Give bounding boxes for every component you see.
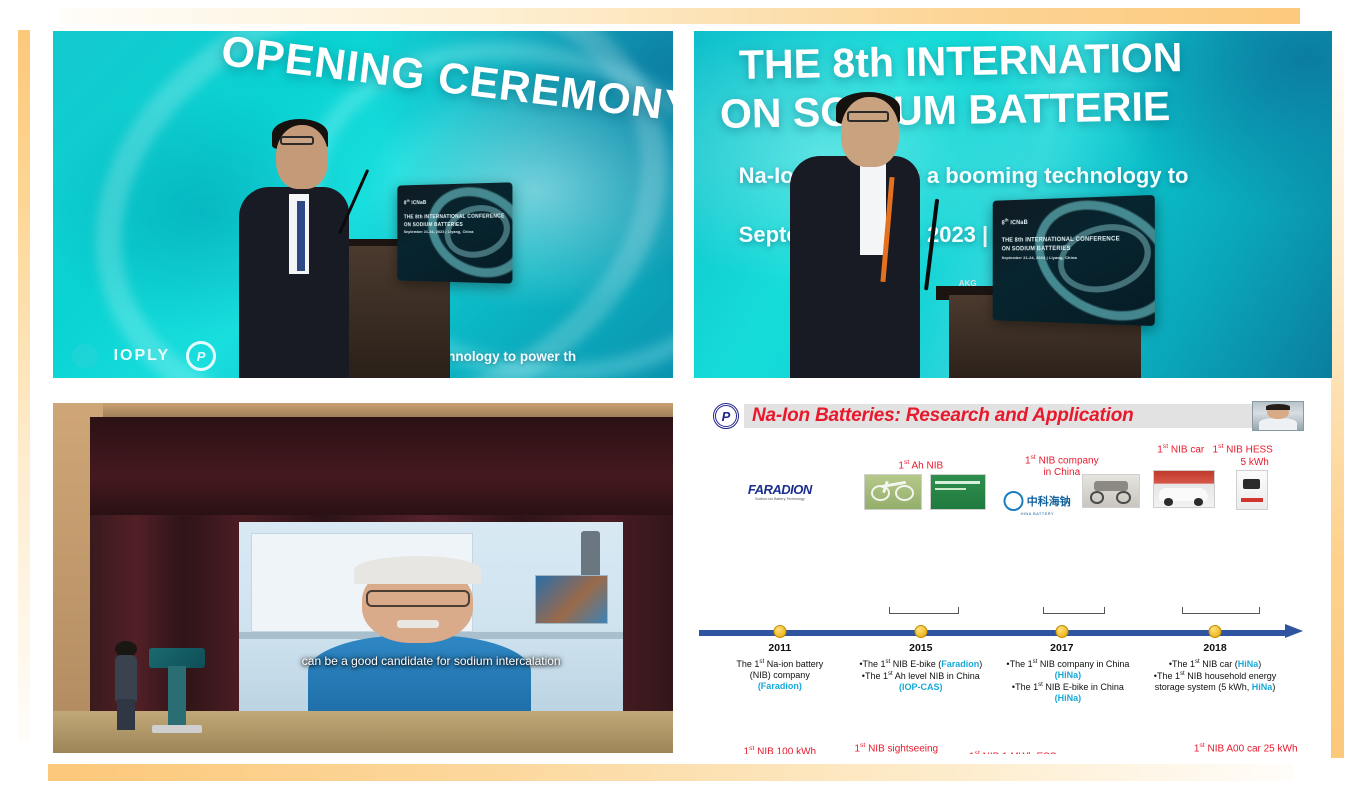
milestone-label-2021: 1st NIB 1 MWh ESS (969, 750, 1057, 754)
eyeglasses-icon (280, 136, 314, 145)
frame-bar-right (1331, 46, 1344, 758)
timeline-node-2015 (914, 625, 927, 638)
conference-laptop-banner: 8th ICNaBTHE 8th INTERNATIONAL CONFERENC… (993, 194, 1155, 325)
institute-seal-icon: P (713, 403, 739, 429)
timeline-caption-2018: •The 1st NIB car (HiNa)•The 1st NIB hous… (1131, 658, 1299, 692)
speaker-head (276, 125, 328, 189)
conference-laptop-banner: 8th ICNaBTHE 8th INTERNATIONAL CONFERENC… (397, 182, 512, 283)
milestone-label-2023: 1st NIB A00 car 25 kWh (1194, 742, 1298, 754)
timeline-caption-2015: •The 1st NIB E-bike (Faradion)•The 1st A… (841, 658, 1001, 692)
hina-battery-logo: 中科海钠 HINA BATTERY (1004, 491, 1071, 516)
timeline-year-2011: 2011 (768, 642, 791, 654)
microphone-brand-label: AKG (959, 279, 977, 288)
timeline-caption-2017: •The 1st NIB company in China(HiNa)•The … (983, 658, 1153, 703)
slide-canvas: P Na-Ion Batteries: Research and Applica… (694, 399, 1307, 754)
milestone-label-2015: 1st Ah NIB (898, 459, 943, 472)
presenter-hair (1266, 404, 1290, 410)
curtain-pelmet (90, 417, 673, 515)
video-caption-text: can be a good candidate for sodium inter… (239, 654, 623, 668)
standing-attendee (115, 641, 137, 729)
speaker-shirt (860, 163, 886, 255)
timeline-node-2011 (773, 625, 786, 638)
bracket-2015 (889, 607, 959, 614)
thumb-green-battery-box (930, 474, 986, 510)
projection-screen: can be a good candidate for sodium inter… (239, 522, 623, 711)
milestone-label-2020: 1st NIB sightseeingEV (854, 742, 938, 754)
timeline-year-2017: 2017 (1050, 642, 1073, 654)
timeline-node-2018 (1209, 625, 1222, 638)
slide-header: P Na-Ion Batteries: Research and Applica… (697, 401, 1304, 431)
wall-speaker (581, 531, 600, 580)
thumb-ebike-china (1082, 474, 1140, 508)
speaker-tie (297, 201, 305, 271)
sponsor-logo-row: IOPLY P (72, 341, 217, 371)
milestone-label-2019: 1st NIB 100 kWh (744, 745, 817, 754)
faradion-logo: FARADIONSodium-ion Battery Technology (748, 482, 812, 501)
hina-mark-icon (1004, 491, 1024, 511)
hina-logo-en: HINA BATTERY (1004, 511, 1071, 516)
timeline-slide: P Na-Ion Batteries: Research and Applica… (694, 399, 1307, 754)
remote-speaker-hair (354, 556, 481, 584)
thumb-wall-battery (1236, 470, 1268, 510)
keynote-speaker-photo: THE 8th INTERNATION ON SODIUM BATTERIE N… (694, 31, 1332, 378)
thumb-nib-car (1153, 470, 1215, 508)
milestone-label-2018: 1st NIB car 1st NIB HESS5 kWh (1157, 443, 1273, 468)
stage-lectern (158, 648, 195, 732)
frame-bar-bottom (48, 764, 1293, 781)
frame-bar-left (18, 30, 30, 742)
moon-logo-icon (72, 344, 98, 368)
eyeglasses-icon (847, 111, 889, 122)
screen-title-line-2: ON SODIUM BATTERIE (719, 83, 1170, 138)
speaker-head (841, 97, 899, 167)
timeline-year-2015: 2015 (909, 642, 932, 654)
lectern-column (168, 666, 187, 726)
presenter-video-thumbnail (1252, 401, 1304, 431)
remote-speaker-auditorium-photo: can be a good candidate for sodium inter… (53, 403, 673, 753)
timeline-node-2017 (1055, 625, 1068, 638)
slide-title: Na-Ion Batteries: Research and Applicati… (744, 405, 1134, 427)
lectern-base (152, 725, 203, 733)
bracket-2017 (1043, 607, 1105, 614)
institute-seal-icon: P (186, 341, 216, 371)
speaker-torso (790, 156, 920, 378)
thumb-ebike (864, 474, 922, 510)
timeline-axis-row-1 (694, 628, 1307, 637)
photo-collage-page: OPENING CEREMONY ries : a booming techno… (0, 0, 1360, 794)
timeline-year-2018: 2018 (1203, 642, 1226, 654)
axis-bar (699, 630, 1285, 636)
lectern-top (149, 648, 206, 668)
frame-bar-top (60, 8, 1300, 24)
ioply-logo-text: IOPLY (114, 347, 171, 365)
bracket-2018 (1182, 607, 1260, 614)
screen-title-line-1: THE 8th INTERNATION (738, 34, 1182, 89)
wall-poster (535, 575, 608, 624)
axis-arrow-icon (1285, 624, 1303, 638)
title-band: Na-Ion Batteries: Research and Applicati… (744, 404, 1304, 428)
moustache (397, 620, 439, 628)
presenter-body (1259, 418, 1297, 431)
laptop-banner-text: 8th ICNaBTHE 8th INTERNATIONAL CONFERENC… (404, 196, 505, 236)
opening-ceremony-photo: OPENING CEREMONY ries : a booming techno… (53, 31, 673, 378)
laptop-banner-text: 8th ICNaBTHE 8th INTERNATIONAL CONFERENC… (1002, 214, 1120, 262)
timeline-caption-2011: The 1st Na-ion battery(NIB) company(Fara… (705, 658, 855, 691)
eyeglasses-icon (366, 590, 470, 607)
attendee-body (115, 655, 137, 701)
attendee-legs (117, 699, 135, 731)
remote-speaker-torso (308, 635, 531, 711)
stage-floor (53, 711, 673, 753)
